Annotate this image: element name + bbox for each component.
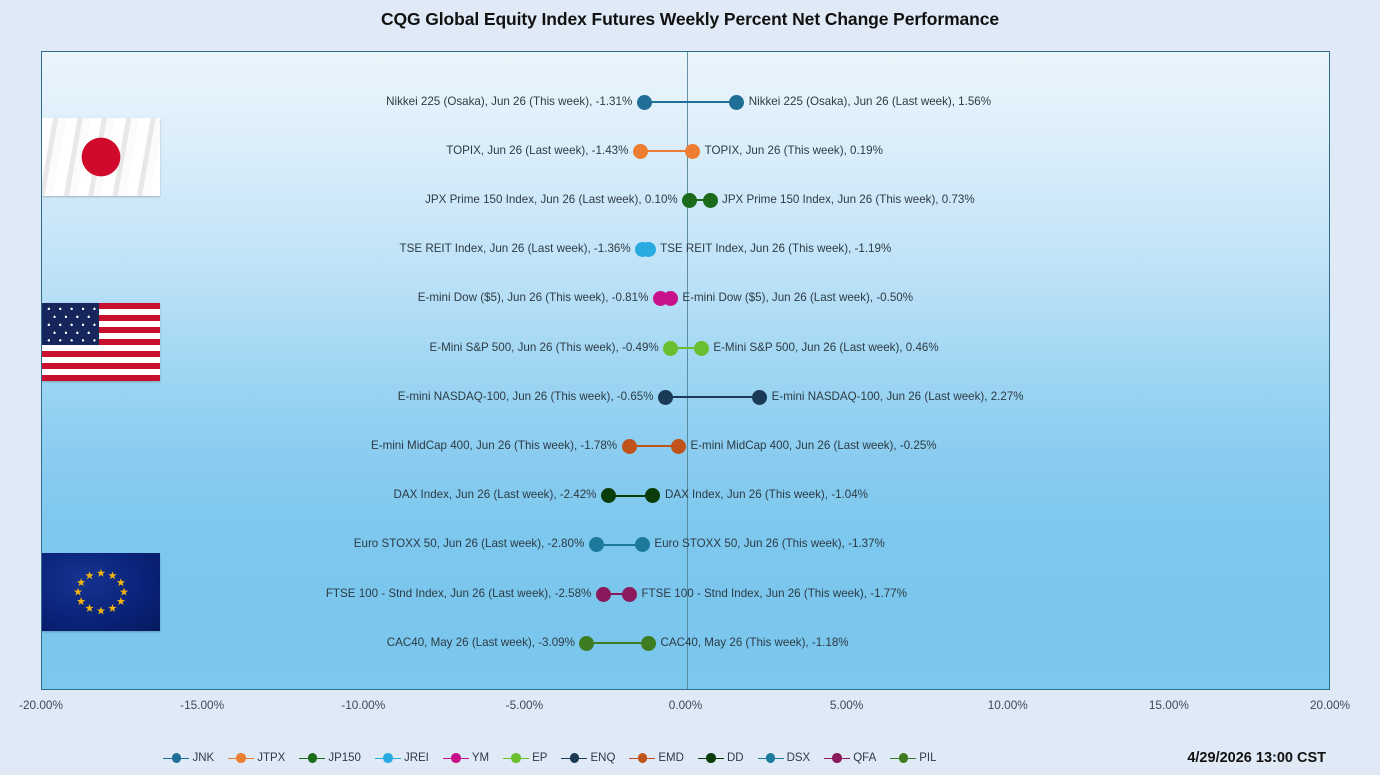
connector-line (666, 396, 760, 398)
legend-marker-icon (163, 753, 189, 764)
point-label-left-ep: E-Mini S&P 500, Jun 26 (This week), -0.4… (430, 340, 659, 356)
data-point-pil-right[interactable] (641, 636, 656, 651)
chart-row-jtpx: TOPIX, Jun 26 (Last week), -1.43%TOPIX, … (42, 138, 1329, 164)
data-point-jp150-right[interactable] (703, 193, 718, 208)
legend-item-dd[interactable]: DD (698, 752, 744, 764)
data-point-enq-right[interactable] (752, 390, 767, 405)
legend-item-qfa[interactable]: QFA (824, 752, 876, 764)
chart-row-ym: E-mini Dow ($5), Jun 26 (This week), -0.… (42, 286, 1329, 312)
legend-item-emd[interactable]: EMD (629, 752, 684, 764)
point-label-left-dsx: Euro STOXX 50, Jun 26 (Last week), -2.80… (354, 536, 585, 552)
x-axis-tick-10: 10.00% (988, 698, 1028, 712)
legend-marker-icon (890, 753, 916, 764)
connector-line (644, 101, 736, 103)
point-label-right-jtpx: TOPIX, Jun 26 (This week), 0.19% (705, 143, 883, 159)
chart-row-ep: E-Mini S&P 500, Jun 26 (This week), -0.4… (42, 335, 1329, 361)
point-label-left-jnk: Nikkei 225 (Osaka), Jun 26 (This week), … (386, 94, 632, 110)
point-label-right-ym: E-mini Dow ($5), Jun 26 (Last week), -0.… (682, 290, 913, 306)
legend-label: ENQ (590, 752, 615, 764)
x-axis-tick-labels: -20.00%-15.00%-10.00%-5.00%0.00%5.00%10.… (0, 698, 1380, 716)
chart-legend: JNKJTPXJP150JREIYMEPENQEMDDDDSXQFAPIL (0, 752, 1100, 764)
legend-item-jp150[interactable]: JP150 (299, 752, 361, 764)
point-label-left-pil: CAC40, May 26 (Last week), -3.09% (387, 635, 575, 651)
chart-row-qfa: FTSE 100 - Stnd Index, Jun 26 (Last week… (42, 581, 1329, 607)
connector-line (587, 642, 649, 644)
point-label-left-ym: E-mini Dow ($5), Jun 26 (This week), -0.… (418, 290, 649, 306)
x-axis-tick-0: 0.00% (669, 698, 702, 712)
point-label-right-jp150: JPX Prime 150 Index, Jun 26 (This week),… (722, 192, 975, 208)
x-axis-tick-neg5: -5.00% (506, 698, 543, 712)
data-point-emd-left[interactable] (622, 439, 637, 454)
legend-label: QFA (853, 752, 876, 764)
legend-label: JP150 (328, 752, 361, 764)
x-axis-tick-5: 5.00% (830, 698, 863, 712)
legend-marker-icon (629, 753, 655, 764)
x-axis-tick-neg20: -20.00% (19, 698, 63, 712)
point-label-right-ep: E-Mini S&P 500, Jun 26 (Last week), 0.46… (713, 340, 938, 356)
data-point-dsx-right[interactable] (635, 537, 650, 552)
chart-row-dd: DAX Index, Jun 26 (Last week), -2.42%DAX… (42, 483, 1329, 509)
data-point-qfa-right[interactable] (622, 587, 637, 602)
point-label-right-enq: E-mini NASDAQ-100, Jun 26 (Last week), 2… (772, 389, 1024, 405)
legend-label: JTPX (257, 752, 285, 764)
data-point-pil-left[interactable] (579, 636, 594, 651)
data-point-ep-right[interactable] (694, 341, 709, 356)
legend-item-jrei[interactable]: JREI (375, 752, 429, 764)
data-point-jnk-right[interactable] (729, 95, 744, 110)
point-label-left-jtpx: TOPIX, Jun 26 (Last week), -1.43% (446, 143, 628, 159)
legend-item-pil[interactable]: PIL (890, 752, 936, 764)
chart-plot-area: Nikkei 225 (Osaka), Jun 26 (This week), … (41, 51, 1330, 690)
data-point-enq-left[interactable] (658, 390, 673, 405)
legend-label: PIL (919, 752, 936, 764)
data-point-ym-right[interactable] (663, 291, 678, 306)
x-axis-tick-neg15: -15.00% (180, 698, 224, 712)
legend-item-dsx[interactable]: DSX (758, 752, 811, 764)
data-point-jtpx-left[interactable] (633, 144, 648, 159)
page-title: CQG Global Equity Index Futures Weekly P… (0, 9, 1380, 30)
legend-marker-icon (503, 753, 529, 764)
point-label-right-qfa: FTSE 100 - Stnd Index, Jun 26 (This week… (641, 586, 907, 602)
legend-marker-icon (698, 753, 724, 764)
legend-label: DSX (787, 752, 811, 764)
point-label-right-pil: CAC40, May 26 (This week), -1.18% (660, 635, 848, 651)
legend-item-enq[interactable]: ENQ (561, 752, 615, 764)
legend-label: DD (727, 752, 744, 764)
chart-row-jrei: TSE REIT Index, Jun 26 (Last week), -1.3… (42, 237, 1329, 263)
data-point-jrei-right[interactable] (641, 242, 656, 257)
data-point-emd-right[interactable] (671, 439, 686, 454)
timestamp-label: 4/29/2026 13:00 CST (1187, 750, 1326, 766)
data-point-jtpx-right[interactable] (685, 144, 700, 159)
data-point-dd-right[interactable] (645, 488, 660, 503)
data-point-jnk-left[interactable] (637, 95, 652, 110)
point-label-left-enq: E-mini NASDAQ-100, Jun 26 (This week), -… (398, 389, 654, 405)
chart-row-emd: E-mini MidCap 400, Jun 26 (This week), -… (42, 433, 1329, 459)
point-label-right-dd: DAX Index, Jun 26 (This week), -1.04% (665, 487, 868, 503)
legend-item-jnk[interactable]: JNK (163, 752, 214, 764)
x-axis-tick-15: 15.00% (1149, 698, 1189, 712)
point-label-right-dsx: Euro STOXX 50, Jun 26 (This week), -1.37… (654, 536, 884, 552)
legend-item-ym[interactable]: YM (443, 752, 489, 764)
point-label-right-emd: E-mini MidCap 400, Jun 26 (Last week), -… (690, 438, 936, 454)
chart-row-jp150: JPX Prime 150 Index, Jun 26 (Last week),… (42, 187, 1329, 213)
chart-row-pil: CAC40, May 26 (Last week), -3.09%CAC40, … (42, 630, 1329, 656)
data-point-ep-left[interactable] (663, 341, 678, 356)
legend-label: YM (472, 752, 489, 764)
legend-item-ep[interactable]: EP (503, 752, 547, 764)
point-label-left-qfa: FTSE 100 - Stnd Index, Jun 26 (Last week… (326, 586, 592, 602)
chart-row-dsx: Euro STOXX 50, Jun 26 (Last week), -2.80… (42, 532, 1329, 558)
point-label-left-jp150: JPX Prime 150 Index, Jun 26 (Last week),… (425, 192, 678, 208)
x-axis-tick-neg10: -10.00% (341, 698, 385, 712)
legend-label: JREI (404, 752, 429, 764)
legend-marker-icon (375, 753, 401, 764)
legend-marker-icon (228, 753, 254, 764)
data-point-dsx-left[interactable] (589, 537, 604, 552)
data-point-qfa-left[interactable] (596, 587, 611, 602)
legend-label: EP (532, 752, 547, 764)
x-axis-tick-20: 20.00% (1310, 698, 1350, 712)
legend-marker-icon (299, 753, 325, 764)
data-point-dd-left[interactable] (601, 488, 616, 503)
legend-marker-icon (824, 753, 850, 764)
point-label-right-jnk: Nikkei 225 (Osaka), Jun 26 (Last week), … (749, 94, 991, 110)
chart-row-jnk: Nikkei 225 (Osaka), Jun 26 (This week), … (42, 89, 1329, 115)
data-point-jp150-left[interactable] (682, 193, 697, 208)
legend-label: EMD (658, 752, 684, 764)
legend-marker-icon (758, 753, 784, 764)
legend-item-jtpx[interactable]: JTPX (228, 752, 285, 764)
legend-marker-icon (561, 753, 587, 764)
legend-marker-icon (443, 753, 469, 764)
legend-label: JNK (192, 752, 214, 764)
point-label-right-jrei: TSE REIT Index, Jun 26 (This week), -1.1… (660, 241, 891, 257)
point-label-left-dd: DAX Index, Jun 26 (Last week), -2.42% (394, 487, 597, 503)
point-label-left-emd: E-mini MidCap 400, Jun 26 (This week), -… (371, 438, 617, 454)
point-label-left-jrei: TSE REIT Index, Jun 26 (Last week), -1.3… (400, 241, 631, 257)
chart-row-enq: E-mini NASDAQ-100, Jun 26 (This week), -… (42, 384, 1329, 410)
